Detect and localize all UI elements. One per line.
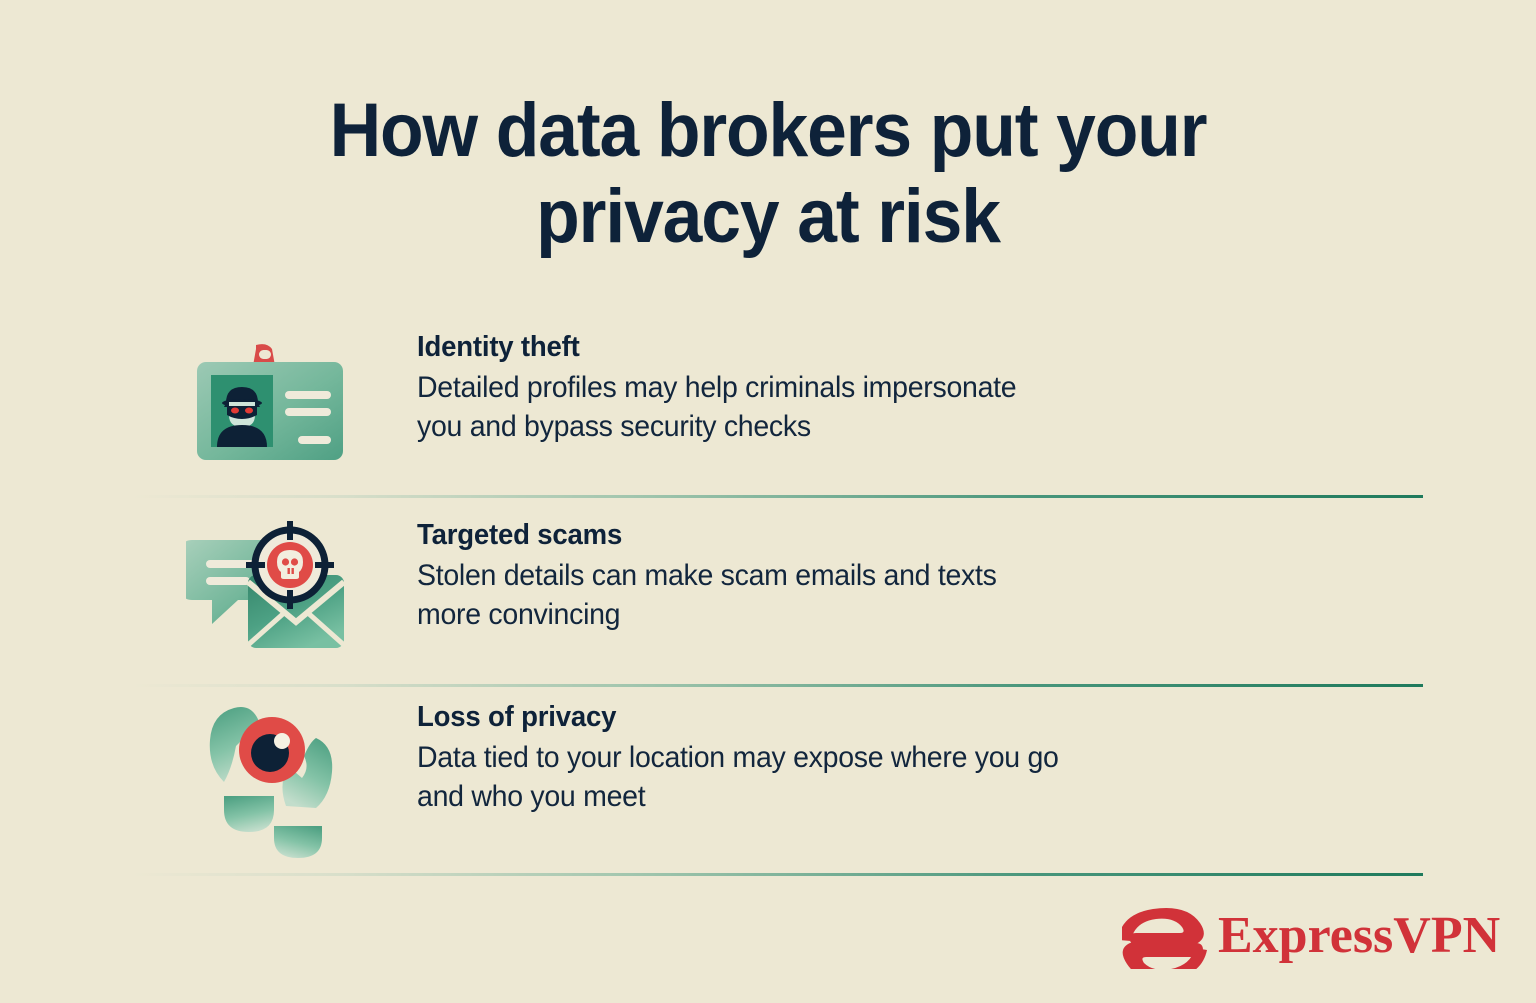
expressvpn-wordmark: ExpressVPN [1218,905,1500,967]
id-badge-thief-icon [186,330,356,480]
risk-item-identity-theft: Identity theft Detailed profiles may hel… [0,330,1536,495]
expressvpn-e-mark-icon [1122,907,1208,974]
risk-body: Stolen details can make scam emails and … [417,556,1272,634]
footprint-eye-icon [196,700,356,860]
page-title: How data brokers put your privacy at ris… [268,88,1268,260]
risk-heading: Identity theft [417,330,1272,364]
infographic-page: How data brokers put your privacy at ris… [0,0,1536,1003]
risk-heading: Loss of privacy [417,700,1272,734]
divider-line [133,495,1423,498]
risk-text-loss-of-privacy: Loss of privacy Data tied to your locati… [417,700,1317,816]
risk-text-identity-theft: Identity theft Detailed profiles may hel… [417,330,1317,446]
divider-line [133,873,1423,876]
divider-line [133,684,1423,687]
risk-text-targeted-scams: Targeted scams Stolen details can make s… [417,518,1317,634]
risk-item-loss-of-privacy: Loss of privacy Data tied to your locati… [0,700,1536,875]
risk-body: Data tied to your location may expose wh… [417,738,1272,816]
risk-item-targeted-scams: Targeted scams Stolen details can make s… [0,518,1536,683]
risk-heading: Targeted scams [417,518,1272,552]
scam-message-skull-target-icon [186,518,356,668]
expressvpn-logo: ExpressVPN [1122,903,1462,973]
risk-body: Detailed profiles may help criminals imp… [417,368,1272,446]
